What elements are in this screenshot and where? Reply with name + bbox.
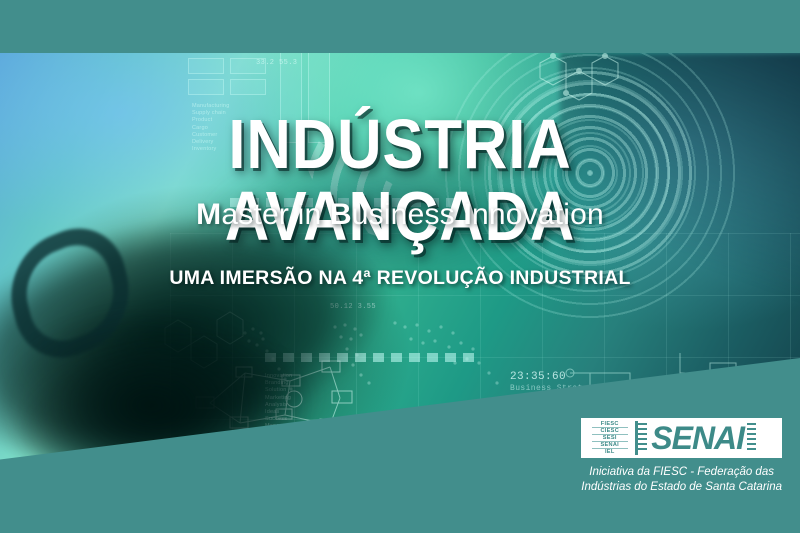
fiesc-system-stack: FIESC CIESC SESI SENAI IEL bbox=[584, 421, 638, 455]
subtitle-b: B bbox=[330, 198, 352, 231]
tagline: UMA IMERSÃO NA 4ª REVOLUÇÃO INDUSTRIAL bbox=[0, 265, 800, 291]
overlay-timecode: 23:35:60 bbox=[510, 371, 566, 383]
poster-canvas: Manufacturing Supply chain Product Cargo… bbox=[0, 0, 800, 533]
stack-item-ciesc: CIESC bbox=[592, 428, 628, 435]
subtitle-i: I bbox=[463, 198, 472, 231]
stack-item-senai: SENAI bbox=[592, 442, 628, 449]
logo-caption: Iniciativa da FIESC - Federação das Indú… bbox=[581, 465, 782, 495]
overlay-number-top: 33.2 55.3 bbox=[256, 59, 297, 67]
subtitle-aster: aster in bbox=[221, 198, 330, 231]
subtitle-usiness: usiness bbox=[352, 198, 464, 231]
logo-mark: FIESC CIESC SESI SENAI IEL SENAI bbox=[581, 418, 782, 458]
hud-block bbox=[230, 79, 266, 95]
top-teal-band bbox=[0, 0, 800, 53]
stack-item-fiesc: FIESC bbox=[592, 421, 628, 428]
logo-wordmark-frame: SENAI bbox=[638, 421, 756, 455]
subtitle: Master in Business Innovation bbox=[0, 196, 800, 234]
senai-logo: FIESC CIESC SESI SENAI IEL SENAI Iniciat… bbox=[581, 418, 782, 495]
subtitle-nnovation: nnovation bbox=[472, 198, 604, 231]
hud-block bbox=[188, 79, 224, 95]
subtitle-m: M bbox=[196, 198, 221, 231]
stack-item-iel: IEL bbox=[592, 449, 628, 455]
hud-block bbox=[188, 58, 224, 74]
stack-item-sesi: SESI bbox=[592, 435, 628, 442]
logo-wordmark: SENAI bbox=[648, 422, 747, 454]
